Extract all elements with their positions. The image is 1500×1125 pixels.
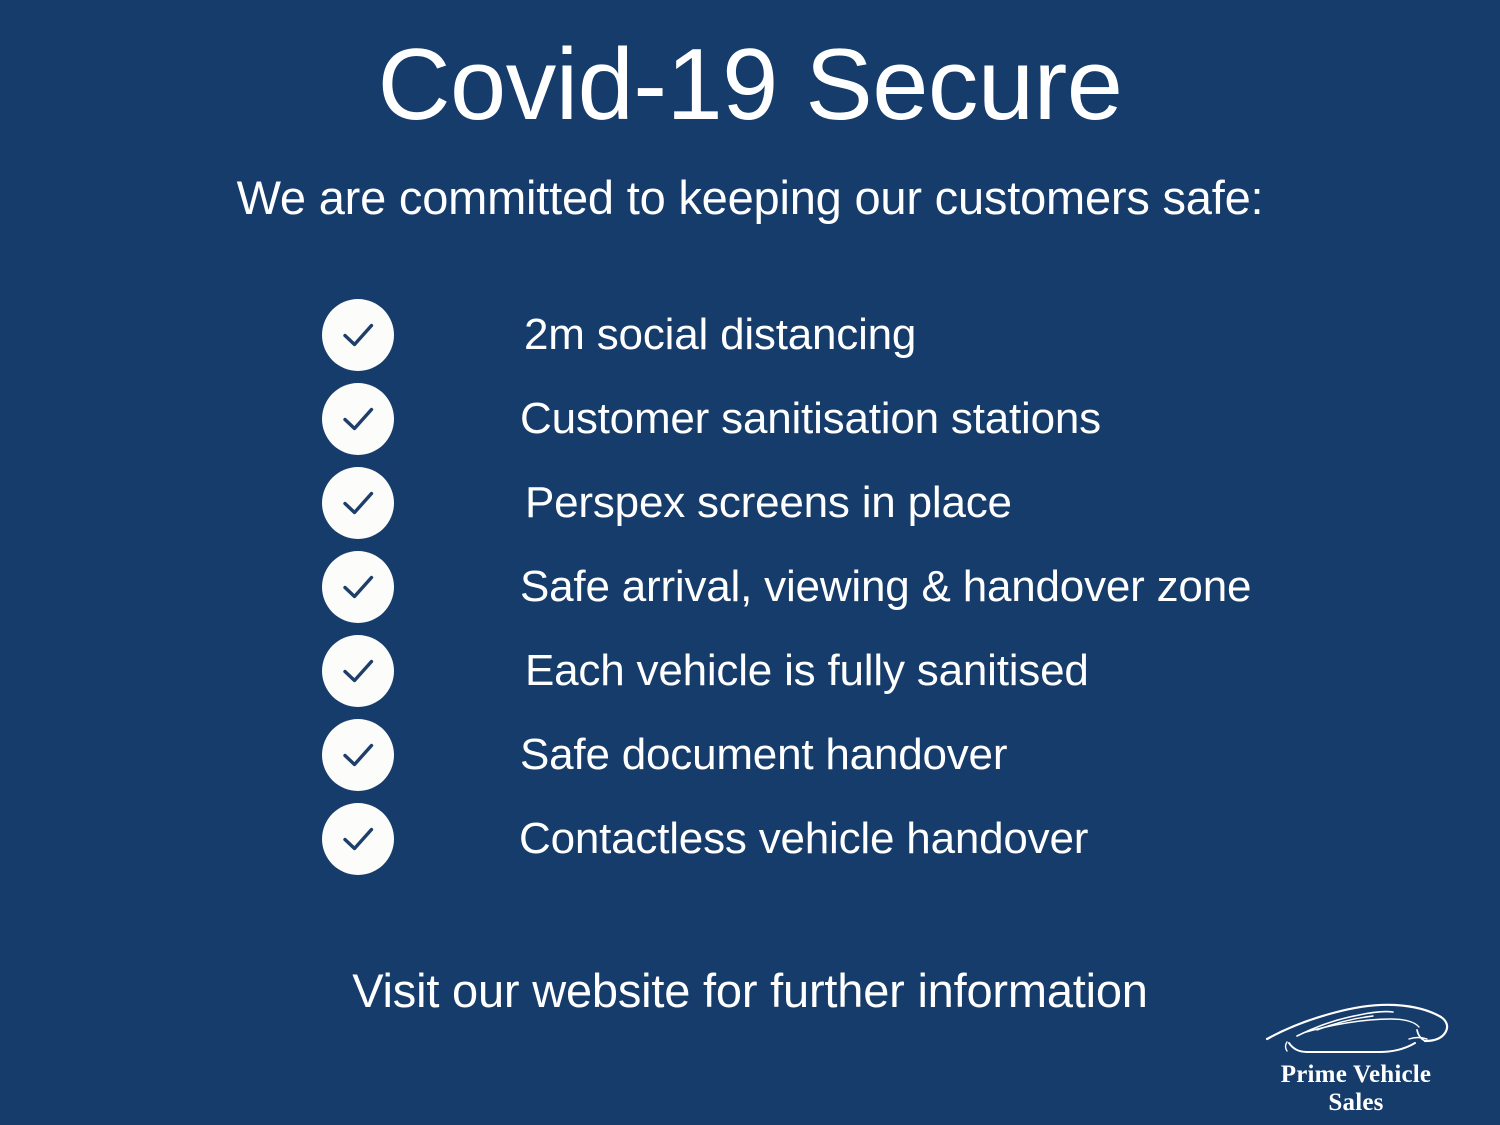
check-icon	[322, 719, 394, 791]
list-item-label: Customer sanitisation stations	[520, 397, 1101, 441]
list-item: Each vehicle is fully sanitised	[322, 629, 1322, 713]
check-icon	[322, 803, 394, 875]
company-logo: Prime Vehicle Sales	[1240, 999, 1472, 1117]
covid-19-secure-slide: Covid-19 Secure We are committed to keep…	[0, 0, 1500, 1125]
list-item: Safe document handover	[322, 713, 1322, 797]
list-item-label: Safe document handover	[520, 733, 1007, 777]
check-icon	[322, 383, 394, 455]
page-title: Covid-19 Secure	[0, 26, 1500, 145]
list-item: Perspex screens in place	[322, 461, 1322, 545]
list-item: Safe arrival, viewing & handover zone	[322, 545, 1322, 629]
list-item-label: Safe arrival, viewing & handover zone	[520, 565, 1251, 609]
logo-text-line1: Prime Vehicle	[1240, 1061, 1472, 1089]
check-icon	[322, 551, 394, 623]
list-item-label: 2m social distancing	[524, 313, 916, 357]
list-item: Contactless vehicle handover	[322, 797, 1322, 881]
list-item: 2m social distancing	[322, 293, 1322, 377]
check-icon	[322, 299, 394, 371]
page-subtitle: We are committed to keeping our customer…	[0, 172, 1500, 225]
car-silhouette-icon	[1259, 999, 1453, 1059]
check-icon	[322, 467, 394, 539]
logo-text-line2: Sales	[1240, 1089, 1472, 1117]
safety-measures-list: 2m social distancing Customer sanitisati…	[322, 293, 1322, 881]
check-icon	[322, 635, 394, 707]
list-item-label: Contactless vehicle handover	[519, 817, 1088, 861]
list-item-label: Perspex screens in place	[525, 481, 1012, 525]
list-item-label: Each vehicle is fully sanitised	[525, 649, 1089, 693]
list-item: Customer sanitisation stations	[322, 377, 1322, 461]
